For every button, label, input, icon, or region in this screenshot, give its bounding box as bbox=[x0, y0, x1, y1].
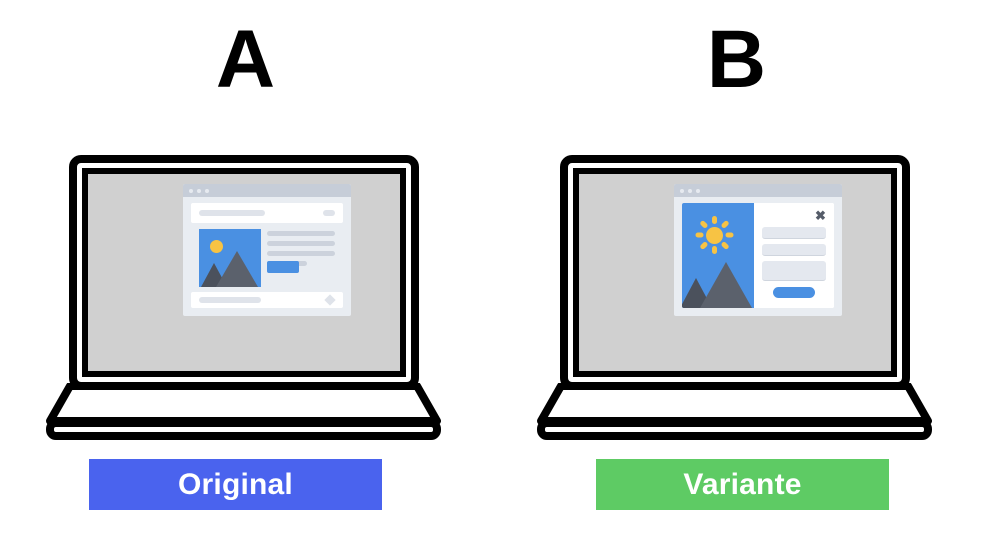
diamond-icon bbox=[324, 294, 335, 305]
sun-ray-icon bbox=[721, 241, 730, 250]
sun-ray-icon bbox=[696, 233, 704, 238]
form-field-input[interactable] bbox=[762, 227, 826, 239]
mockup-b-hero-image bbox=[682, 203, 754, 308]
laptop-a-base bbox=[46, 383, 441, 440]
variant-b-badge-label: Variante bbox=[683, 468, 801, 502]
mockup-a-hero-image bbox=[199, 229, 261, 287]
variant-a: A bbox=[0, 0, 491, 546]
mockup-a-header bbox=[191, 203, 343, 223]
laptop-b-bezel: ✖ bbox=[573, 168, 897, 377]
variant-b: B bbox=[491, 0, 982, 546]
variant-a-badge: Original bbox=[89, 459, 382, 510]
mockup-b-window: ✖ bbox=[674, 184, 842, 316]
laptop-a-lid bbox=[69, 155, 419, 390]
window-dot-icon bbox=[205, 189, 209, 193]
sun-ray-icon bbox=[726, 233, 734, 238]
laptop-a bbox=[46, 155, 441, 440]
sun-ray-icon bbox=[712, 216, 717, 224]
form-field-textarea[interactable] bbox=[762, 261, 826, 281]
mockup-a-titlebar bbox=[183, 184, 351, 197]
ab-comparison-stage: A bbox=[0, 0, 982, 546]
footer-placeholder-bar bbox=[199, 297, 261, 303]
window-dot-icon bbox=[189, 189, 193, 193]
variant-b-letter: B bbox=[491, 14, 982, 106]
sun-ray-icon bbox=[699, 241, 708, 250]
variant-b-badge: Variante bbox=[596, 459, 889, 510]
laptop-b-base-edge bbox=[537, 419, 932, 440]
laptop-b-screen: ✖ bbox=[579, 174, 891, 371]
header-placeholder-bar bbox=[199, 210, 265, 216]
laptop-a-screen bbox=[88, 174, 400, 371]
laptop-a-base-edge bbox=[46, 419, 441, 440]
mockup-a-body bbox=[191, 203, 343, 308]
sun-ray-icon bbox=[721, 220, 730, 229]
laptop-b: ✖ bbox=[537, 155, 932, 440]
sun-icon bbox=[706, 227, 723, 244]
window-dot-icon bbox=[688, 189, 692, 193]
close-x-icon[interactable]: ✖ bbox=[815, 210, 826, 221]
window-dot-icon bbox=[680, 189, 684, 193]
mountain-large-icon bbox=[700, 262, 752, 308]
sun-ray-icon bbox=[712, 246, 717, 254]
header-placeholder-pill bbox=[323, 210, 335, 216]
mockup-a-footer bbox=[191, 292, 343, 308]
window-dot-icon bbox=[696, 189, 700, 193]
laptop-b-base bbox=[537, 383, 932, 440]
form-field-input[interactable] bbox=[762, 244, 826, 256]
variant-a-letter: A bbox=[0, 14, 491, 106]
window-dot-icon bbox=[197, 189, 201, 193]
mountain-large-icon bbox=[216, 251, 258, 287]
text-line-placeholder bbox=[267, 241, 335, 246]
mockup-a-window bbox=[183, 184, 351, 316]
mockup-b-body: ✖ bbox=[682, 203, 834, 308]
laptop-b-lid: ✖ bbox=[560, 155, 910, 390]
mockup-a-cta-button[interactable] bbox=[267, 261, 299, 273]
mockup-b-titlebar bbox=[674, 184, 842, 197]
mockup-b-form: ✖ bbox=[754, 203, 834, 308]
mockup-b-cta-button[interactable] bbox=[773, 287, 815, 298]
sun-ray-icon bbox=[699, 220, 708, 229]
text-line-placeholder bbox=[267, 251, 335, 256]
laptop-a-bezel bbox=[82, 168, 406, 377]
variant-a-badge-label: Original bbox=[178, 468, 293, 502]
text-line-placeholder bbox=[267, 231, 335, 236]
